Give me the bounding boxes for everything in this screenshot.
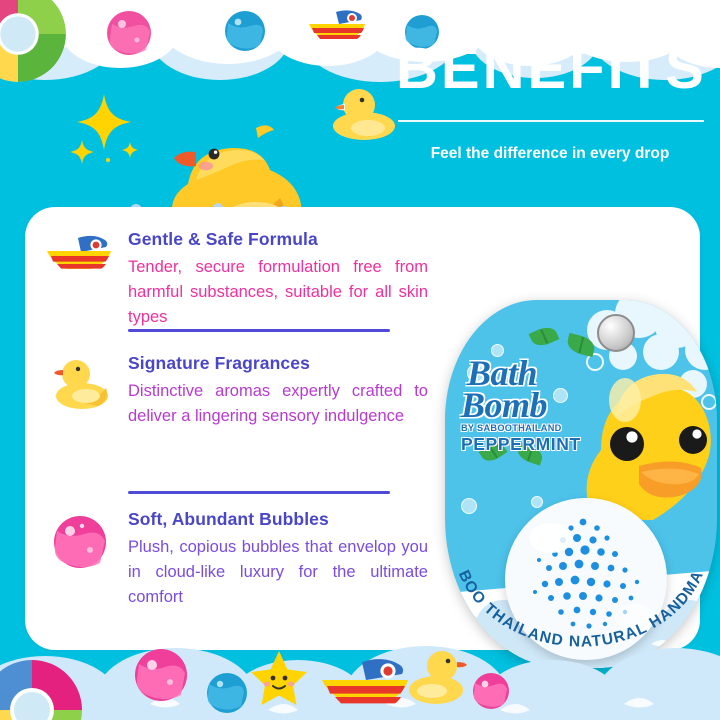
tagline: Feel the difference in every drop	[390, 145, 710, 163]
bubble-icon	[531, 496, 543, 508]
brand-line-2: Bomb	[461, 389, 591, 422]
benefit-text-1: Gentle & Safe Formula Tender, secure for…	[128, 228, 428, 330]
product-variant: PEPPERMINT	[461, 434, 591, 455]
poster-canvas: BENEFITS Feel the difference in every dr…	[0, 0, 720, 720]
title-divider	[398, 120, 704, 122]
toy-boat-icon	[44, 230, 114, 288]
rainbow-swim-ring-icon	[0, 648, 96, 720]
benefit-heading-2: Signature Fragrances	[128, 352, 428, 374]
small-duck-icon	[326, 72, 400, 146]
benefit-divider-2	[128, 491, 390, 494]
product-hangtag: Bath Bomb BY SABOOTHAILAND PEPPERMINT	[445, 300, 717, 668]
star-icon	[248, 648, 310, 710]
small-pink-ball-icon	[472, 672, 510, 710]
page-title: BENEFITS	[396, 38, 706, 100]
brand-byline: BY SABOOTHAILAND	[461, 423, 591, 433]
benefit-heading-1: Gentle & Safe Formula	[128, 228, 428, 250]
blue-ball-icon	[206, 672, 248, 714]
hangtag-brand: Bath Bomb BY SABOOTHAILAND PEPPERMINT	[461, 358, 591, 455]
pink-ball-icon	[106, 10, 152, 56]
benefit-divider-1	[128, 329, 390, 332]
benefit-body-3: Plush, copious bubbles that envelop you …	[128, 535, 428, 610]
benefit-body-2: Distinctive aromas expertly crafted to d…	[128, 379, 428, 429]
pink-ball-icon	[134, 648, 188, 702]
benefit-text-3: Soft, Abundant Bubbles Plush, copious bu…	[128, 508, 428, 610]
benefit-body-1: Tender, secure formulation free from har…	[128, 255, 428, 330]
hangtag-hole	[597, 314, 635, 352]
blue-ball-icon	[224, 10, 266, 52]
swim-ring-icon	[0, 0, 70, 86]
toy-boat-icon	[318, 652, 412, 710]
benefit-text-2: Signature Fragrances Distinctive aromas …	[128, 352, 428, 429]
mint-leaf-icon	[529, 323, 560, 349]
benefit-heading-3: Soft, Abundant Bubbles	[128, 508, 428, 530]
rubber-duck-icon	[402, 646, 468, 708]
bubble-icon	[461, 498, 477, 514]
bath-bomb-ball-icon	[52, 514, 122, 572]
hangtag-body: Bath Bomb BY SABOOTHAILAND PEPPERMINT	[445, 300, 717, 668]
toy-boat-icon	[306, 6, 368, 46]
sparkle-icon	[62, 88, 152, 168]
rubber-duck-icon	[50, 354, 120, 412]
